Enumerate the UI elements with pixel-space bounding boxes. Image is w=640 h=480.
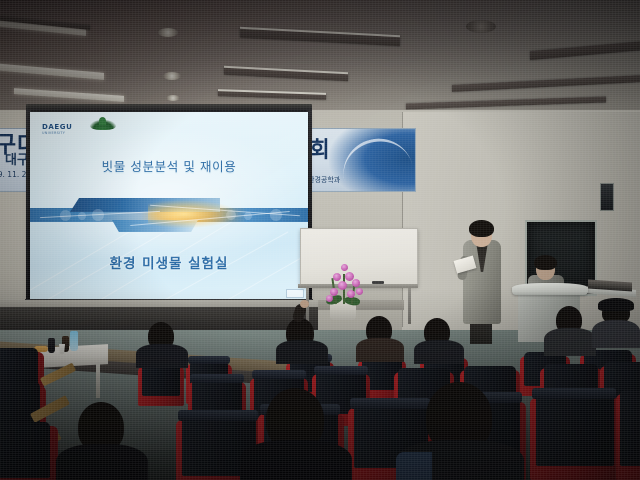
photo-scene: 구대 대구 09. 11. 20(금 발표회 발표회 : 대구대학교 환경공학과…	[0, 0, 640, 480]
slide-logo: DAEGU UNIVERSITY	[42, 120, 122, 138]
coffee-can	[48, 338, 55, 353]
projection-screen: DAEGU UNIVERSITY 빗물 성분분석 및 재이용 환경 미생물 실험…	[30, 112, 308, 302]
cap-icon	[598, 298, 634, 311]
logo-subtext: UNIVERSITY	[42, 131, 65, 135]
raised-hand	[300, 300, 309, 308]
lectern-top	[512, 283, 588, 295]
whiteboard	[300, 228, 418, 286]
slide-title: 빗물 성분분석 및 재이용	[30, 156, 308, 175]
audience-jacket-detail	[396, 452, 432, 480]
whiteboard-marker	[372, 281, 384, 284]
leaf-icon	[90, 120, 116, 130]
slide-corner-badge	[286, 289, 304, 298]
slide-graphic-band	[30, 198, 308, 230]
slide-subtitle: 환경 미생물 실험실	[30, 252, 308, 272]
wall-mounted-box	[600, 183, 614, 211]
ceiling	[0, 0, 640, 118]
water-bottle	[70, 331, 78, 351]
logo-text: DAEGU	[42, 123, 72, 131]
